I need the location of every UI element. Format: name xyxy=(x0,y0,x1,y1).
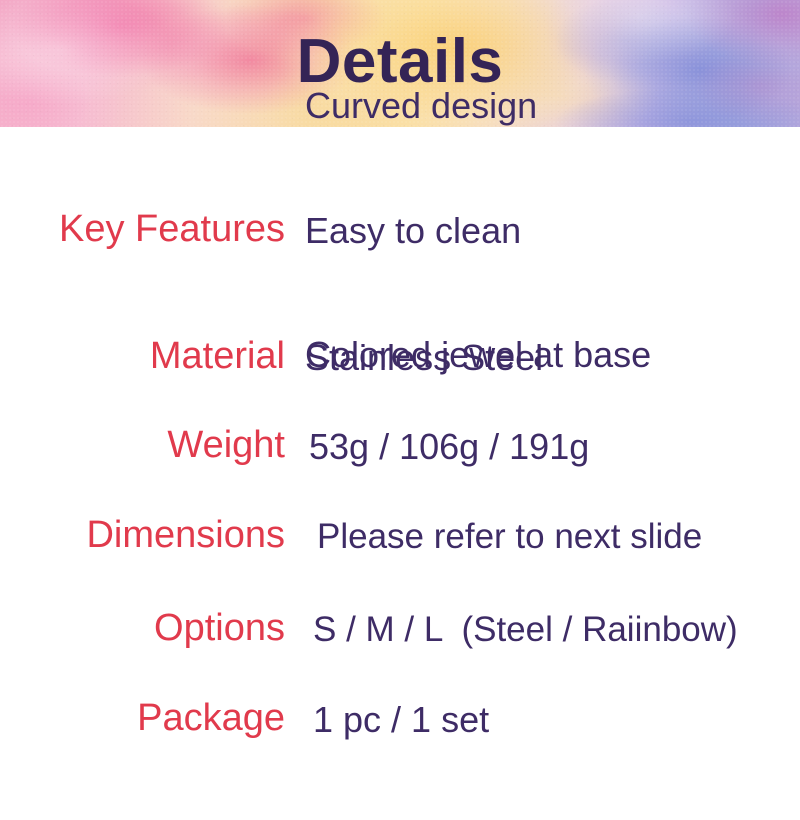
spec-value-line: 1 pc / 1 set xyxy=(313,696,800,743)
spec-label-material: Material xyxy=(0,336,285,377)
spec-label-options: Options xyxy=(0,608,285,649)
spec-value-package: 1 pc / 1 set xyxy=(285,618,800,820)
spec-label-key-features: Key Features xyxy=(0,209,285,250)
spec-row-package: Package 1 pc / 1 set xyxy=(0,685,800,753)
spec-label-package: Package xyxy=(0,698,285,739)
spec-label-dimensions: Dimensions xyxy=(0,515,285,556)
spec-value-line: Easy to clean xyxy=(305,207,800,254)
spec-table: Key Features Curved design Easy to clean… xyxy=(0,127,800,800)
spec-label-weight: Weight xyxy=(0,425,285,466)
page-title: Details xyxy=(0,0,800,127)
